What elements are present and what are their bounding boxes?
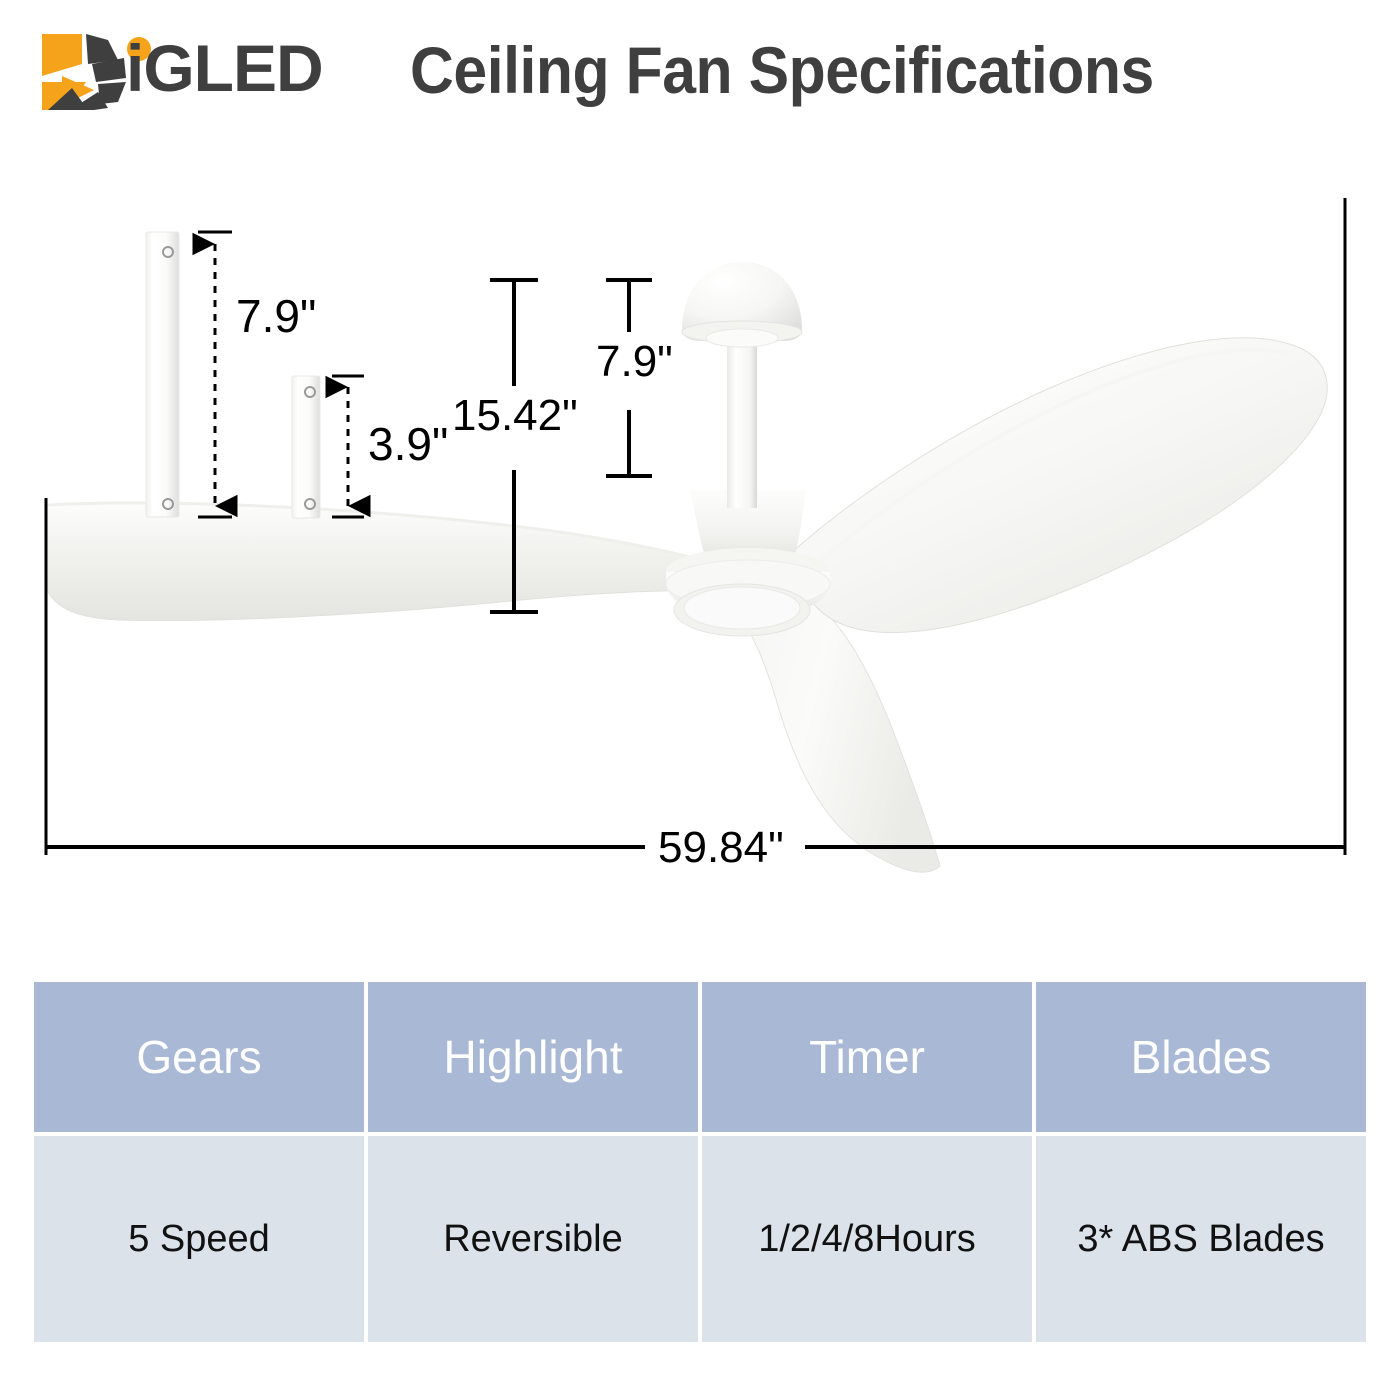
specifications-table: Gears Highlight Timer Blades 5 Speed Rev… <box>30 978 1370 1346</box>
page-title: Ceiling Fan Specifications <box>410 32 1154 108</box>
downrod-3-9-inch <box>292 376 320 518</box>
page-header: iGLED Ceiling Fan Specifications <box>0 0 1400 140</box>
aperture-logo-icon <box>38 30 128 114</box>
table-cell-timer: 1/2/4/8Hours <box>702 1136 1032 1342</box>
logo-wordmark: iGLED <box>126 26 323 110</box>
fan-downrod <box>727 340 757 508</box>
table-cell-highlight: Reversible <box>368 1136 698 1342</box>
table-header-row: Gears Highlight Timer Blades <box>34 982 1366 1132</box>
diagram-area: 7.9" 3.9" 15.42" 7.9" 59.84" <box>0 140 1400 940</box>
table-header-blades: Blades <box>1036 982 1366 1132</box>
table-cell-gears: 5 Speed <box>34 1136 364 1342</box>
table-cell-blades: 3* ABS Blades <box>1036 1136 1366 1342</box>
fan-blade-left <box>46 503 742 621</box>
table-header-timer: Timer <box>702 982 1032 1132</box>
table-header-highlight: Highlight <box>368 982 698 1132</box>
table-row: 5 Speed Reversible 1/2/4/8Hours 3* ABS B… <box>34 1136 1366 1342</box>
table-header-gears: Gears <box>34 982 364 1132</box>
dimension-label-blade-span: 59.84" <box>658 823 784 872</box>
dimension-downrod-3-9: 3.9" <box>332 376 448 517</box>
brand-logo: iGLED <box>38 22 368 118</box>
fan-motor-housing <box>666 490 830 636</box>
dimension-canopy-to-motor: 7.9" <box>596 280 673 476</box>
fan-canopy <box>682 262 802 347</box>
dimension-label-total-height: 15.42" <box>452 391 578 440</box>
dimension-label-canopy-to-motor: 7.9" <box>596 337 673 386</box>
dimension-label-downrod-3-9: 3.9" <box>368 418 448 470</box>
dimension-label-downrod-7-9: 7.9" <box>236 290 316 342</box>
fan-blade-upper-right <box>792 338 1327 633</box>
downrod-7-9-inch <box>146 232 179 517</box>
